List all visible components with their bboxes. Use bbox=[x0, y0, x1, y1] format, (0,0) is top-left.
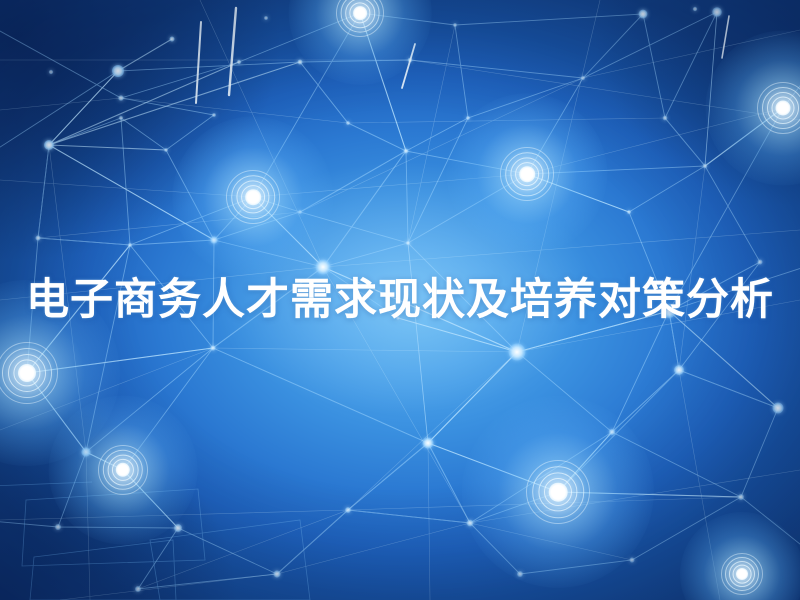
page-title: 电子商务人才需求现状及培养对策分析 bbox=[26, 277, 774, 323]
presentation-slide: 电子商务人才需求现状及培养对策分析 bbox=[0, 0, 800, 600]
title-area: 电子商务人才需求现状及培养对策分析 bbox=[0, 262, 800, 338]
